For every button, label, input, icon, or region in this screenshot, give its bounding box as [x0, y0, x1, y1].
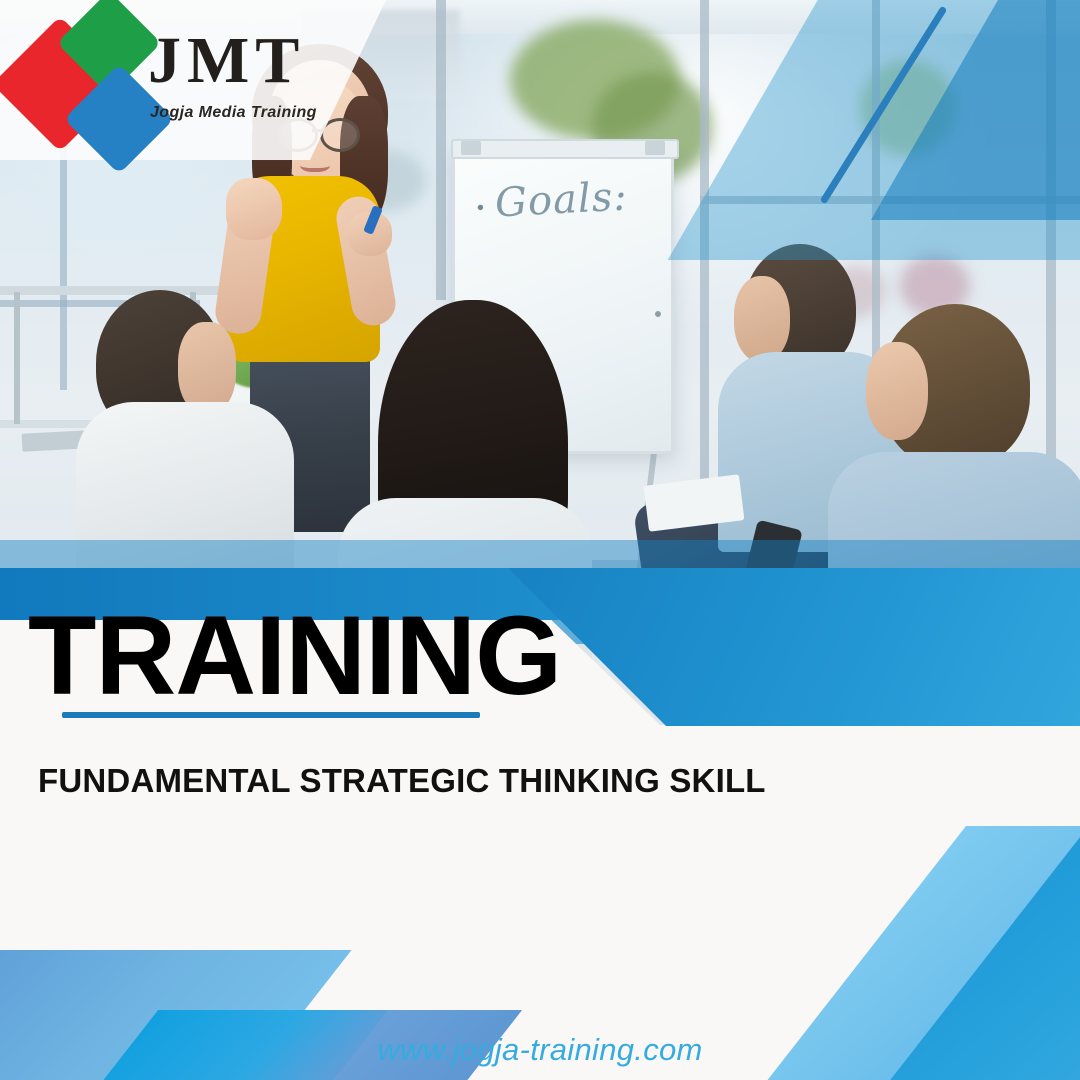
title-underline [62, 712, 480, 718]
whiteboard-clip-right [645, 141, 665, 155]
whiteboard-text: Goals: [494, 174, 629, 227]
promotional-poster: • Goals: [0, 0, 1080, 1080]
blue-divider-diagonal [500, 568, 1080, 726]
page-title: TRAINING [28, 600, 561, 712]
window-mullion-2 [700, 0, 709, 560]
participant4-face [866, 342, 928, 440]
shelf-top [0, 286, 220, 295]
participant3-face [734, 276, 790, 362]
page-subtitle: FUNDAMENTAL STRATEGIC THINKING SKILL [38, 762, 766, 800]
window-post-left [60, 150, 67, 390]
whiteboard-bullet: • [476, 197, 485, 221]
logo-wordmark: JMT [148, 28, 305, 94]
logo-tagline: Jogja Media Training [150, 104, 317, 122]
participant1-face [178, 322, 236, 414]
whiteboard-dot [655, 311, 661, 317]
presenter-hand-left [226, 178, 282, 240]
whiteboard-clip-left [461, 141, 481, 155]
window-mullion-1 [436, 0, 446, 300]
shelf-leg-left [14, 292, 20, 424]
website-url[interactable]: www.jogja-training.com [0, 1032, 1080, 1068]
